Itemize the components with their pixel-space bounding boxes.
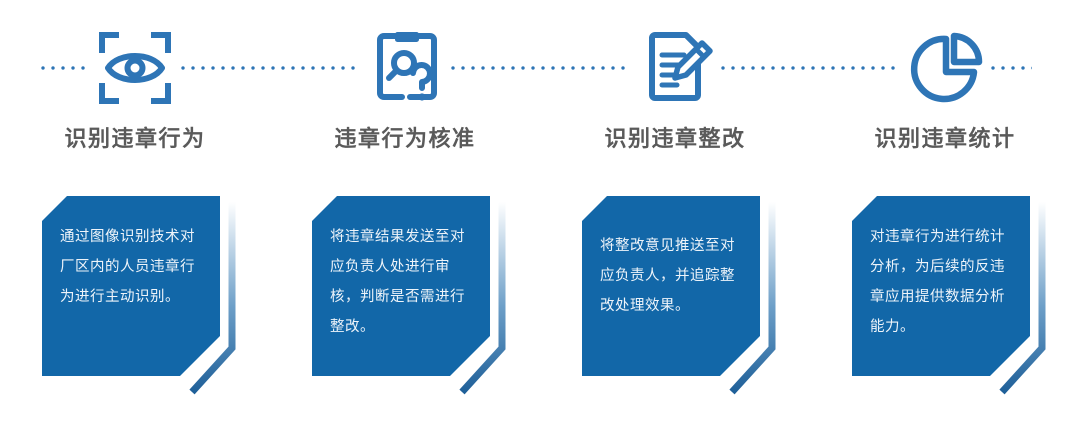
card-slot-1: 通过图像识别技术对厂区内的人员违章行为进行主动识别。 bbox=[0, 196, 270, 411]
infographic-root: 识别违章行为 违章行为核准 bbox=[0, 0, 1080, 447]
step-2[interactable]: 违章行为核准 bbox=[270, 0, 540, 165]
cards-row: 通过图像识别技术对厂区内的人员违章行为进行主动识别。 bbox=[0, 196, 1080, 411]
clipboard-question-icon bbox=[359, 22, 451, 114]
card-text-3: 将整改意见推送至对应负责人，并追踪整改处理效果。 bbox=[600, 231, 742, 321]
description-card-3[interactable]: 将整改意见推送至对应负责人，并追踪整改处理效果。 bbox=[582, 196, 760, 393]
step-1[interactable]: 识别违章行为 bbox=[0, 0, 270, 165]
steps-row: 识别违章行为 违章行为核准 bbox=[0, 0, 1080, 165]
card-body-3: 将整改意见推送至对应负责人，并追踪整改处理效果。 bbox=[582, 196, 760, 376]
card-body-2: 将违章结果发送至对应负责人处进行审核，判断是否需进行整改。 bbox=[312, 196, 490, 376]
step-4[interactable]: 识别违章统计 bbox=[810, 0, 1080, 165]
eye-scan-icon bbox=[89, 22, 181, 114]
description-card-2[interactable]: 将违章结果发送至对应负责人处进行审核，判断是否需进行整改。 bbox=[312, 196, 490, 393]
card-text-2: 将违章结果发送至对应负责人处进行审核，判断是否需进行整改。 bbox=[330, 222, 472, 342]
card-slot-3: 将整改意见推送至对应负责人，并追踪整改处理效果。 bbox=[540, 196, 810, 411]
card-slot-2: 将违章结果发送至对应负责人处进行审核，判断是否需进行整改。 bbox=[270, 196, 540, 411]
card-body-4: 对违章行为进行统计分析，为后续的反违章应用提供数据分析能力。 bbox=[852, 196, 1030, 376]
document-pencil-icon bbox=[629, 22, 721, 114]
step-3-title: 识别违章整改 bbox=[604, 128, 745, 150]
card-slot-4: 对违章行为进行统计分析，为后续的反违章应用提供数据分析能力。 bbox=[810, 196, 1080, 411]
description-card-1[interactable]: 通过图像识别技术对厂区内的人员违章行为进行主动识别。 bbox=[42, 196, 220, 393]
step-1-title: 识别违章行为 bbox=[64, 128, 205, 150]
card-text-4: 对违章行为进行统计分析，为后续的反违章应用提供数据分析能力。 bbox=[870, 222, 1012, 342]
card-text-1: 通过图像识别技术对厂区内的人员违章行为进行主动识别。 bbox=[60, 222, 202, 312]
description-card-4[interactable]: 对违章行为进行统计分析，为后续的反违章应用提供数据分析能力。 bbox=[852, 196, 1030, 393]
step-3[interactable]: 识别违章整改 bbox=[540, 0, 810, 165]
step-2-title: 违章行为核准 bbox=[334, 128, 475, 150]
pie-chart-icon bbox=[899, 22, 991, 114]
step-4-title: 识别违章统计 bbox=[874, 128, 1015, 150]
card-body-1: 通过图像识别技术对厂区内的人员违章行为进行主动识别。 bbox=[42, 196, 220, 376]
